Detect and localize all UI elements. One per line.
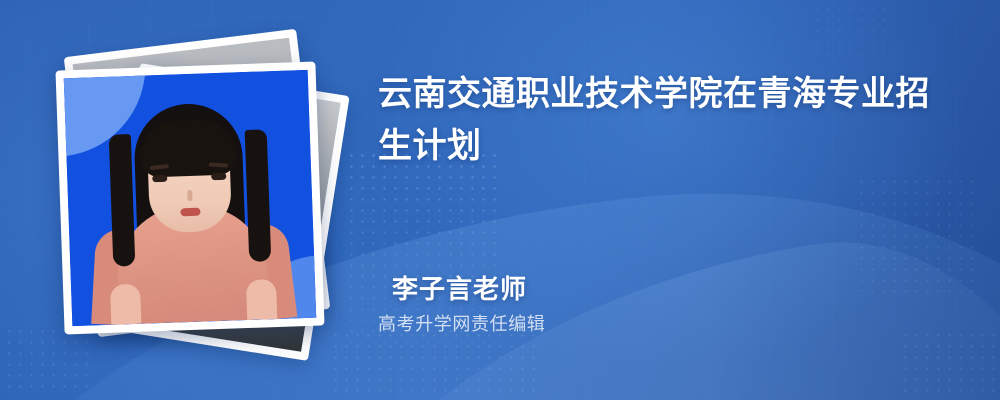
author-role: 高考升学网责任编辑	[378, 310, 545, 338]
photo-background	[64, 70, 317, 326]
avatar	[55, 62, 324, 335]
dot-grid-bottom-center	[330, 330, 540, 396]
portrait-eye-right	[211, 173, 226, 181]
portrait-nose	[187, 190, 192, 201]
page-title: 云南交通职业技术学院在青海专业招生计划	[378, 68, 963, 172]
photo-card-stack	[44, 34, 344, 364]
portrait-illustration	[82, 94, 300, 325]
portrait-hair-side-left	[109, 134, 136, 267]
dot-grid-top-right	[812, 4, 892, 56]
article-cover-banner: 云南交通职业技术学院在青海专业招生计划 李子言老师 高考升学网责任编辑	[0, 0, 1000, 400]
portrait-arm-left	[110, 284, 141, 325]
portrait-mouth	[180, 208, 200, 217]
background-glow-bottom-right	[640, 180, 1000, 400]
dot-grid-right-upper	[856, 176, 976, 292]
portrait-arm-right	[246, 279, 277, 320]
author-name: 李子言老师	[392, 272, 545, 306]
byline: 李子言老师 高考升学网责任编辑	[392, 272, 545, 338]
portrait-hair-side-right	[245, 129, 272, 262]
cover-text-block: 云南交通职业技术学院在青海专业招生计划	[378, 68, 978, 172]
dot-grid-right-lower	[900, 330, 1000, 400]
portrait-eye-left	[152, 175, 167, 183]
